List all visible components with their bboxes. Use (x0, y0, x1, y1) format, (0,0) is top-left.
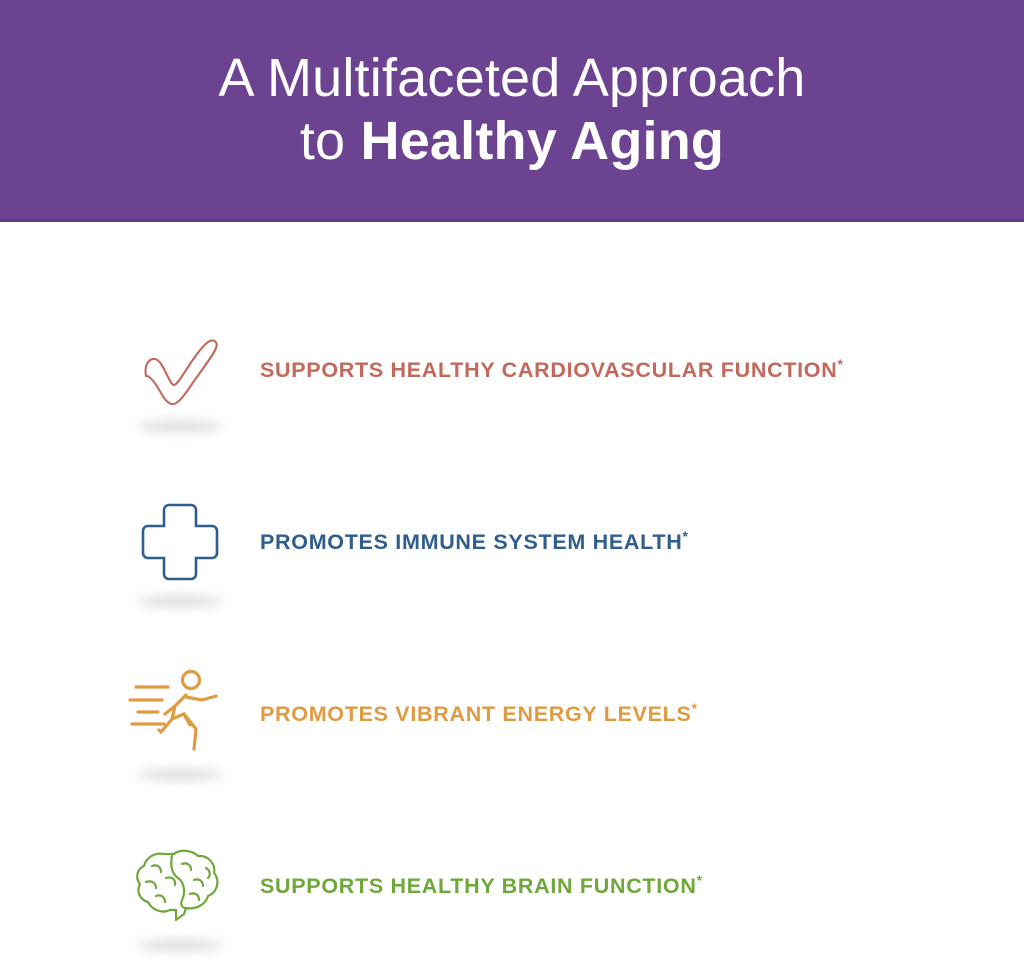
feature-list: SUPPORTS HEALTHY CARDIOVASCULAR FUNCTION… (0, 222, 1024, 961)
icon-shadow (137, 939, 223, 952)
feature-label-text: PROMOTES VIBRANT ENERGY LEVELS (260, 702, 692, 726)
runner-icon (128, 667, 232, 763)
feature-label-text: SUPPORTS HEALTHY CARDIOVASCULAR FUNCTION (260, 358, 837, 382)
asterisk-marker: * (697, 872, 703, 888)
feature-label: PROMOTES IMMUNE SYSTEM HEALTH* (260, 527, 689, 558)
asterisk-marker: * (837, 356, 843, 372)
feature-label: SUPPORTS HEALTHY BRAIN FUNCTION* (260, 871, 703, 902)
feature-row: PROMOTES VIBRANT ENERGY LEVELS* (0, 628, 1024, 800)
header-banner: A Multifaceted Approach to Healthy Aging (0, 0, 1024, 222)
page-title-bold-text: Healthy Aging (361, 111, 725, 171)
medical-cross-icon (137, 499, 223, 585)
asterisk-marker: * (692, 700, 698, 716)
feature-row: PROMOTES IMMUNE SYSTEM HEALTH* (0, 456, 1024, 628)
feature-row: SUPPORTS HEALTHY CARDIOVASCULAR FUNCTION… (0, 284, 1024, 456)
brain-icon (132, 844, 228, 928)
feature-label: SUPPORTS HEALTHY CARDIOVASCULAR FUNCTION… (260, 355, 844, 386)
icon-cell (100, 816, 260, 956)
page-title-light-text: to (300, 111, 361, 171)
feature-row: SUPPORTS HEALTHY BRAIN FUNCTION* (0, 800, 1024, 961)
page-title-line-1: A Multifaceted Approach (219, 48, 806, 108)
healthy-aging-infographic: A Multifaceted Approach to Healthy Aging… (0, 0, 1024, 961)
checkmark-icon (134, 321, 226, 413)
icon-cell (100, 297, 260, 437)
icon-shadow (137, 595, 223, 608)
feature-label: PROMOTES VIBRANT ENERGY LEVELS* (260, 699, 698, 730)
icon-cell (100, 472, 260, 612)
asterisk-marker: * (682, 528, 688, 544)
icon-shadow (137, 768, 223, 781)
page-title-line-2: to Healthy Aging (300, 111, 724, 171)
icon-shadow (137, 420, 223, 433)
feature-label-text: PROMOTES IMMUNE SYSTEM HEALTH (260, 530, 682, 554)
icon-cell (100, 645, 260, 785)
feature-label-text: SUPPORTS HEALTHY BRAIN FUNCTION (260, 874, 697, 898)
